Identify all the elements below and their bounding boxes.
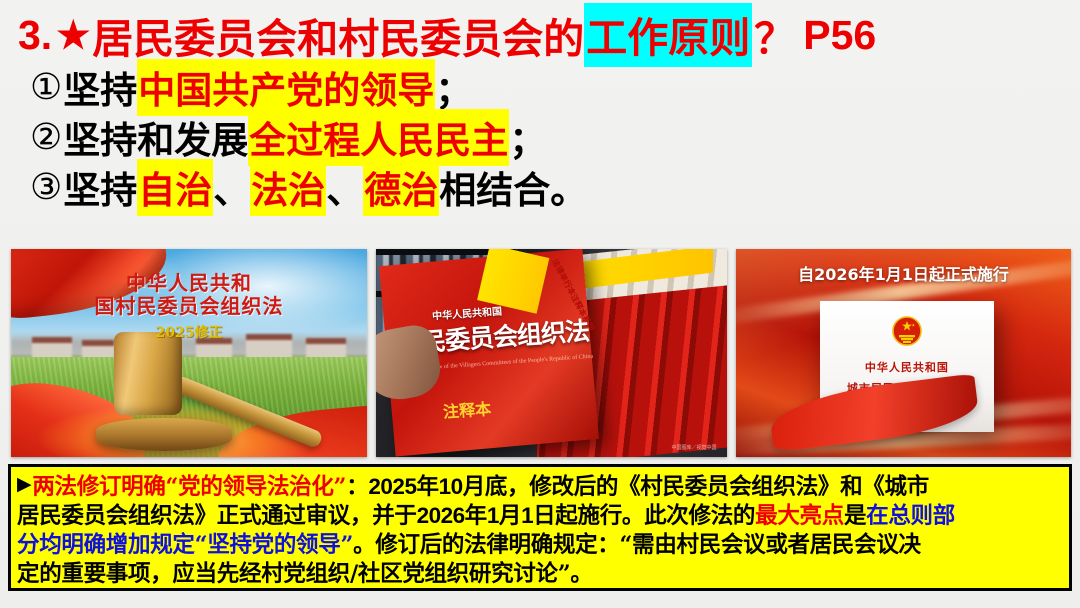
title-text-before: 居民委员会和村民委员会的 xyxy=(92,5,584,65)
bullet-1-highlight: 中国共产党的领导 xyxy=(137,59,435,116)
note-line-2: 居民委员会组织法》正式通过审议，并于2026年1月1日起施行。此次修法的最大亮点… xyxy=(17,499,1065,528)
title-number: 3. xyxy=(18,12,52,59)
triangle-bullet-icon: ▶ xyxy=(17,475,31,494)
poster-subtitle-1: 2025修正 xyxy=(11,322,367,342)
image-row: 中华人民共和 国村民委员会组织法 2025修正 法律单行本注释本系列 中华人民共… xyxy=(0,249,1080,457)
bullet-3-text-before: 坚持 xyxy=(63,160,137,214)
title-highlight-keyword: 工作原则 xyxy=(584,3,752,67)
page-title: 3. ★ 居民委员会和村民委员会的 工作原则 ？ P56 xyxy=(18,8,1068,62)
bullet-item-2: ② 坚持和发展 全过程人民民主 ； xyxy=(30,112,1060,162)
bullet-3-separator-1: 、 xyxy=(213,160,250,214)
slide-root: 3. ★ 居民委员会和村民委员会的 工作原则 ？ P56 ① 坚持 中国共产党的… xyxy=(0,0,1080,608)
bullet-3-separator-2: 、 xyxy=(326,160,363,214)
poster-banner-3: 自2026年1月1日起正式施行 xyxy=(736,261,1071,285)
bullet-1-text-after: ； xyxy=(435,60,472,114)
poster-title-line-2: 国村民委员会组织法 xyxy=(11,295,367,319)
bullet-item-1: ① 坚持 中国共产党的领导 ； xyxy=(30,62,1060,112)
bullet-3-text-after: 相结合。 xyxy=(439,160,587,214)
bullet-marker-3: ③ xyxy=(30,167,62,208)
poster-title-1: 中华人民共和 国村民委员会组织法 xyxy=(11,272,367,319)
bullet-list: ① 坚持 中国共产党的领导 ； ② 坚持和发展 全过程人民民主 ； ③ 坚持 自… xyxy=(30,62,1060,212)
booklet-title-line-1: 中华人民共和国 xyxy=(820,359,994,375)
gavel-base xyxy=(96,418,231,451)
note-line-3: 分均明确增加规定“坚持党的领导”。修订后的法律明确规定：“需由村民会议或者居民会… xyxy=(17,528,1065,557)
note-line-4: 定的重要事项，应当先经村党组织/社区党组织研究讨论”。 xyxy=(17,557,1065,586)
note-line-3-runs: 分均明确增加规定“坚持党的领导”。修订后的法律明确规定：“需由村民会议或者居民会… xyxy=(17,527,921,559)
note-line-1: ▶ 两法修订明确“党的领导法治化”：2025年10月底，修改后的《村民委员会组织… xyxy=(17,470,1065,499)
star-icon: ★ xyxy=(56,16,90,54)
note-line-4-runs: 定的重要事项，应当先经村党组织/社区党组织研究讨论”。 xyxy=(17,556,593,588)
title-page-ref: P56 xyxy=(803,12,876,59)
bullet-marker-2: ② xyxy=(30,117,62,158)
national-emblem-icon xyxy=(887,315,927,351)
bullet-3-highlight-2: 法治 xyxy=(250,159,326,216)
bullet-2-text-before: 坚持和发展 xyxy=(63,110,248,164)
note-line-1-runs: 两法修订明确“党的领导法治化”：2025年10月底，修改后的《村民委员会组织法》… xyxy=(32,469,929,501)
title-question-mark: ？ xyxy=(754,5,795,65)
poster-title-line-1: 中华人民共和 xyxy=(11,272,367,296)
bullet-3-highlight-1: 自治 xyxy=(137,159,213,216)
bullet-item-3: ③ 坚持 自治 、 法治 、 德治 相结合。 xyxy=(30,162,1060,212)
image-village-committee-law-gavel-poster: 中华人民共和 国村民委员会组织法 2025修正 xyxy=(11,249,367,457)
gavel-head-icon xyxy=(114,332,182,415)
note-box: ▶ 两法修订明确“党的领导法治化”：2025年10月底，修改后的《村民委员会组织… xyxy=(8,464,1072,591)
photo-credit: 中国图库／视觉中国 xyxy=(671,444,716,451)
note-line-2-runs: 居民委员会组织法》正式通过审议，并于2026年1月1日起施行。此次修法的最大亮点… xyxy=(17,498,955,530)
image-red-law-books-photo: 法律单行本注释本系列 中华人民共和国 村民委员会组织法 Organic Law … xyxy=(376,249,727,457)
bullet-3-highlight-3: 德治 xyxy=(363,159,439,216)
bullet-marker-1: ① xyxy=(30,67,62,108)
image-urban-residents-committee-law-poster: 自2026年1月1日起正式施行 中华人民共和国 城市居民委员会组织法 xyxy=(736,249,1071,457)
bullet-2-text-after: ； xyxy=(509,110,546,164)
bullet-2-highlight: 全过程人民民主 xyxy=(248,109,509,166)
book-note-label: 注释本 xyxy=(442,395,492,422)
bullet-1-text-before: 坚持 xyxy=(63,60,137,114)
